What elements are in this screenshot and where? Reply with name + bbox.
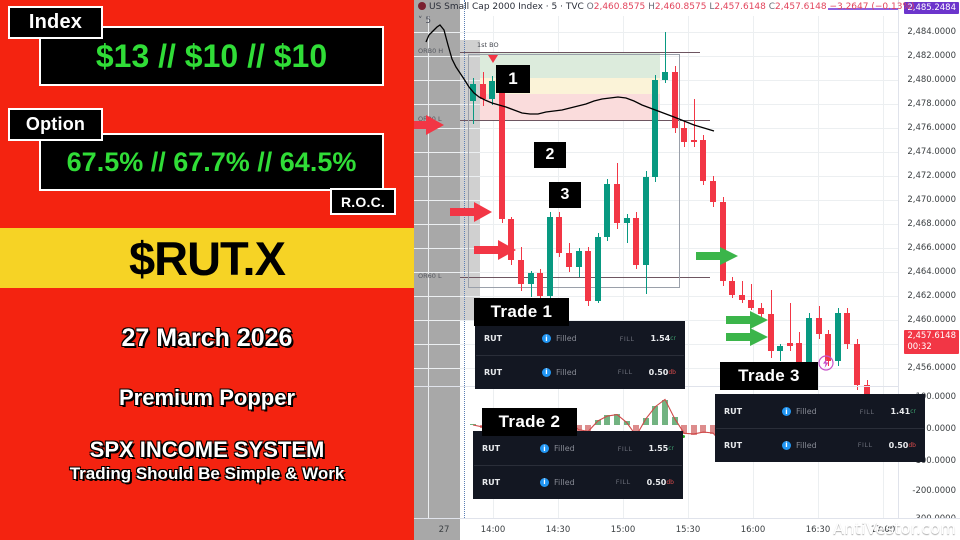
- table-row[interactable]: RUT i Filled FILL 1.41 cr: [716, 395, 924, 428]
- order-type: db: [908, 442, 916, 449]
- time-tick: 16:00: [741, 525, 766, 535]
- order-status: Filled: [554, 478, 575, 487]
- order-symbol: RUT: [724, 441, 782, 450]
- order-price: 0.50: [647, 478, 667, 487]
- candle-body: [499, 81, 505, 219]
- candle-body: [854, 344, 860, 385]
- candle-body: [739, 295, 745, 300]
- order-price: 1.54: [650, 334, 670, 343]
- order-status: Filled: [556, 368, 577, 377]
- chart-canvas[interactable]: ORB0 H OR20 L OR60 L 1st BO 1 2 3: [414, 0, 960, 540]
- histogram-bar: [470, 424, 476, 426]
- open-label: O: [587, 2, 594, 12]
- index-tag-label: Index: [29, 11, 82, 34]
- gridline: [414, 296, 898, 297]
- bar-countdown: 00:32: [907, 342, 956, 353]
- info-icon[interactable]: i: [542, 334, 551, 343]
- price-tick: 2,472.0000: [907, 171, 956, 181]
- candle-body: [537, 273, 543, 296]
- gridline: [414, 32, 898, 33]
- price-tick: 2,460.0000: [907, 315, 956, 325]
- marker-3-label: 3: [561, 186, 570, 204]
- time-tick: 14:00: [481, 525, 506, 535]
- time-tick: 14:30: [546, 525, 571, 535]
- order-symbol: RUT: [724, 407, 782, 416]
- table-row[interactable]: RUT i Filled FILL 1.54 cr: [476, 322, 684, 355]
- candle-body: [691, 140, 697, 142]
- histogram-marker: [682, 435, 685, 438]
- price-tick: 2,474.0000: [907, 147, 956, 157]
- histogram-bar: [691, 425, 697, 435]
- candle-body: [576, 251, 582, 267]
- marker-1-label: 1: [508, 69, 517, 89]
- indicator-tick: -200.0000: [912, 486, 956, 496]
- candle-body: [662, 72, 668, 79]
- change-value: −3.2647 (−0.13%): [829, 2, 914, 12]
- symbol-dot-icon: [418, 2, 426, 10]
- screenshot-root: Index $13 // $10 // $10 Option 67.5% // …: [0, 0, 960, 540]
- interval-selector[interactable]: ˅ 5: [418, 16, 431, 26]
- candle-body: [624, 218, 630, 223]
- candle-body: [480, 84, 486, 98]
- price-tick: 2,476.0000: [907, 123, 956, 133]
- trade-1-label: Trade 1: [474, 298, 569, 326]
- watermark: AntiVestor.com: [833, 519, 956, 538]
- info-icon[interactable]: i: [540, 444, 549, 453]
- histogram-bar: [614, 414, 620, 425]
- time-tick: 27: [439, 525, 450, 535]
- chart-marker-1: 1: [496, 65, 530, 93]
- system-tagline: Trading Should Be Simple & Work: [0, 464, 414, 484]
- price-tick: 2,480.0000: [907, 75, 956, 85]
- price-tick: 2,484.0000: [907, 27, 956, 37]
- price-tick: 2,466.0000: [907, 243, 956, 253]
- order-status: Filled: [796, 407, 817, 416]
- fill-label: FILL: [618, 368, 633, 376]
- order-price: 0.50: [889, 441, 909, 450]
- price-tick: 2,464.0000: [907, 267, 956, 277]
- current-price-value: 2,457.6148: [907, 331, 956, 342]
- order-status: Filled: [796, 441, 817, 450]
- candle-body: [816, 318, 822, 335]
- histogram-bar: [700, 425, 706, 433]
- system-name: SPX INCOME SYSTEM: [0, 437, 414, 463]
- info-icon[interactable]: i: [782, 407, 791, 416]
- order-symbol: RUT: [484, 368, 542, 377]
- high-label: H: [648, 2, 655, 12]
- trade-3-orders[interactable]: RUT i Filled FILL 1.41 cr RUT i Filled F…: [716, 395, 924, 461]
- roc-tag: R.O.C.: [330, 188, 396, 215]
- candle-body: [595, 237, 601, 301]
- low-value: 2,457.6148: [714, 2, 766, 12]
- order-symbol: RUT: [484, 334, 542, 343]
- histogram-bar: [595, 420, 601, 425]
- candle-wick: [742, 281, 743, 303]
- histogram-bar: [652, 406, 658, 425]
- time-tick: 15:30: [676, 525, 701, 535]
- index-value: $13 // $10 // $10: [96, 38, 327, 75]
- fill-label: FILL: [860, 408, 875, 416]
- trade-2-label-text: Trade 2: [499, 412, 561, 432]
- time-tick: 16:30: [806, 525, 831, 535]
- order-type: db: [666, 479, 674, 486]
- info-icon[interactable]: i: [542, 368, 551, 377]
- histogram-bar: [604, 415, 610, 425]
- candle-body: [643, 177, 649, 265]
- alert-icon[interactable]: [818, 355, 834, 371]
- histogram-bar: [672, 417, 678, 425]
- table-row[interactable]: RUT i Filled FILL 0.50 db: [474, 465, 682, 498]
- order-type: cr: [670, 335, 676, 342]
- time-axis-shade: [414, 519, 460, 540]
- candle-body: [633, 218, 639, 265]
- trade-2-orders[interactable]: RUT i Filled FILL 1.55 cr RUT i Filled F…: [474, 432, 682, 498]
- order-status: Filled: [554, 444, 575, 453]
- candle-body: [556, 217, 562, 253]
- price-tick: 2,468.0000: [907, 219, 956, 229]
- table-row[interactable]: RUT i Filled FILL 0.50 db: [476, 355, 684, 388]
- chart-header: US Small Cap 2000 Index · 5 · TVC O2,460…: [418, 2, 915, 12]
- entry-arrow-1: [450, 200, 494, 224]
- option-value: 67.5% // 67.7% // 64.5%: [67, 147, 357, 178]
- exit-arrow-1: [696, 245, 740, 267]
- candle-body: [470, 84, 476, 101]
- trade-2-label: Trade 2: [482, 408, 577, 436]
- exit-arrow-3: [726, 326, 770, 348]
- order-price: 0.50: [649, 368, 669, 377]
- time-tick: 15:00: [611, 525, 636, 535]
- breakout-label: 1st BO: [477, 41, 499, 49]
- price-tick: 2,462.0000: [907, 291, 956, 301]
- chart-symbol-title: US Small Cap 2000 Index · 5 · TVC: [429, 2, 584, 12]
- order-price: 1.41: [890, 407, 910, 416]
- trade-date: 27 March 2026: [0, 324, 414, 353]
- histogram-bar: [681, 425, 687, 434]
- chart-marker-2: 2: [534, 142, 566, 168]
- candle-body: [652, 80, 658, 177]
- order-symbol: RUT: [482, 444, 540, 453]
- candle-body: [681, 128, 687, 142]
- histogram-bar: [643, 418, 649, 425]
- trade-1-orders[interactable]: RUT i Filled FILL 1.54 cr RUT i Filled F…: [476, 322, 684, 388]
- trade-3-label-text: Trade 3: [738, 366, 800, 386]
- candle-body: [614, 184, 620, 222]
- orb-high-line: [460, 52, 700, 53]
- order-type: cr: [910, 408, 916, 415]
- trade-3-label: Trade 3: [720, 362, 818, 390]
- price-tick: 2,482.0000: [907, 51, 956, 61]
- candle-body: [672, 72, 678, 127]
- order-status: Filled: [556, 334, 577, 343]
- histogram-bar: [662, 400, 668, 425]
- order-symbol: RUT: [482, 478, 540, 487]
- or60-low-label: OR60 L: [418, 272, 442, 280]
- histogram-bar: [624, 421, 630, 425]
- ticker-band: $RUT.X: [0, 228, 414, 288]
- marker-2-label: 2: [546, 146, 555, 164]
- candle-body: [604, 184, 610, 237]
- fill-label: FILL: [618, 445, 633, 453]
- price-tick: 2,456.0000: [907, 363, 956, 373]
- trade-1-label-text: Trade 1: [491, 302, 553, 322]
- candle-body: [489, 81, 495, 99]
- interval-value: 5: [425, 16, 431, 26]
- trading-chart[interactable]: ORB0 H OR20 L OR60 L 1st BO 1 2 3: [414, 0, 960, 540]
- current-price-tag: 2,457.6148 00:32: [904, 330, 959, 354]
- index-tag: Index: [8, 6, 103, 39]
- candle-body: [748, 300, 754, 308]
- candle-body: [835, 313, 841, 361]
- roc-tag-label: R.O.C.: [341, 194, 385, 210]
- candle-body: [528, 273, 534, 284]
- order-price: 1.55: [648, 444, 668, 453]
- candle-body: [710, 181, 716, 203]
- info-panel: Index $13 // $10 // $10 Option 67.5% // …: [0, 0, 414, 540]
- option-value-box: 67.5% // 67.7% // 64.5%: [39, 133, 384, 191]
- candle-body: [518, 260, 524, 284]
- price-tick: 2,478.0000: [907, 99, 956, 109]
- signal-triangle-icon: [488, 55, 498, 63]
- indicator-tick: 0.0000: [926, 424, 956, 434]
- order-type: cr: [668, 445, 674, 452]
- price-tick: 2,470.0000: [907, 195, 956, 205]
- fill-label: FILL: [616, 478, 631, 486]
- candle-body: [547, 217, 553, 296]
- orb-high-label: ORB0 H: [418, 47, 443, 55]
- candle-body: [585, 251, 591, 300]
- table-row[interactable]: RUT i Filled FILL 1.55 cr: [474, 432, 682, 465]
- candle-body: [729, 281, 735, 294]
- fill-label: FILL: [858, 441, 873, 449]
- chart-marker-3: 3: [549, 182, 581, 208]
- order-type: db: [668, 369, 676, 376]
- option-tag: Option: [8, 108, 103, 141]
- candle-body: [700, 140, 706, 181]
- high-value: 2,460.8575: [655, 2, 707, 12]
- table-row[interactable]: RUT i Filled FILL 0.50 db: [716, 428, 924, 461]
- option-tag-label: Option: [26, 114, 85, 135]
- entry-arrow-2: [474, 238, 518, 262]
- ticker-symbol: $RUT.X: [129, 231, 285, 286]
- candle-body: [844, 313, 850, 344]
- info-icon[interactable]: i: [782, 441, 791, 450]
- open-value: 2,460.8575: [594, 2, 646, 12]
- entry-arrow-left: [414, 112, 446, 138]
- fill-label: FILL: [620, 335, 635, 343]
- candle-body: [720, 202, 726, 281]
- strategy-name: Premium Popper: [0, 385, 414, 411]
- candle-body: [777, 346, 783, 351]
- info-icon[interactable]: i: [540, 478, 549, 487]
- candle-body: [566, 253, 572, 267]
- candle-body: [787, 343, 793, 347]
- close-value: 2,457.6148: [775, 2, 827, 12]
